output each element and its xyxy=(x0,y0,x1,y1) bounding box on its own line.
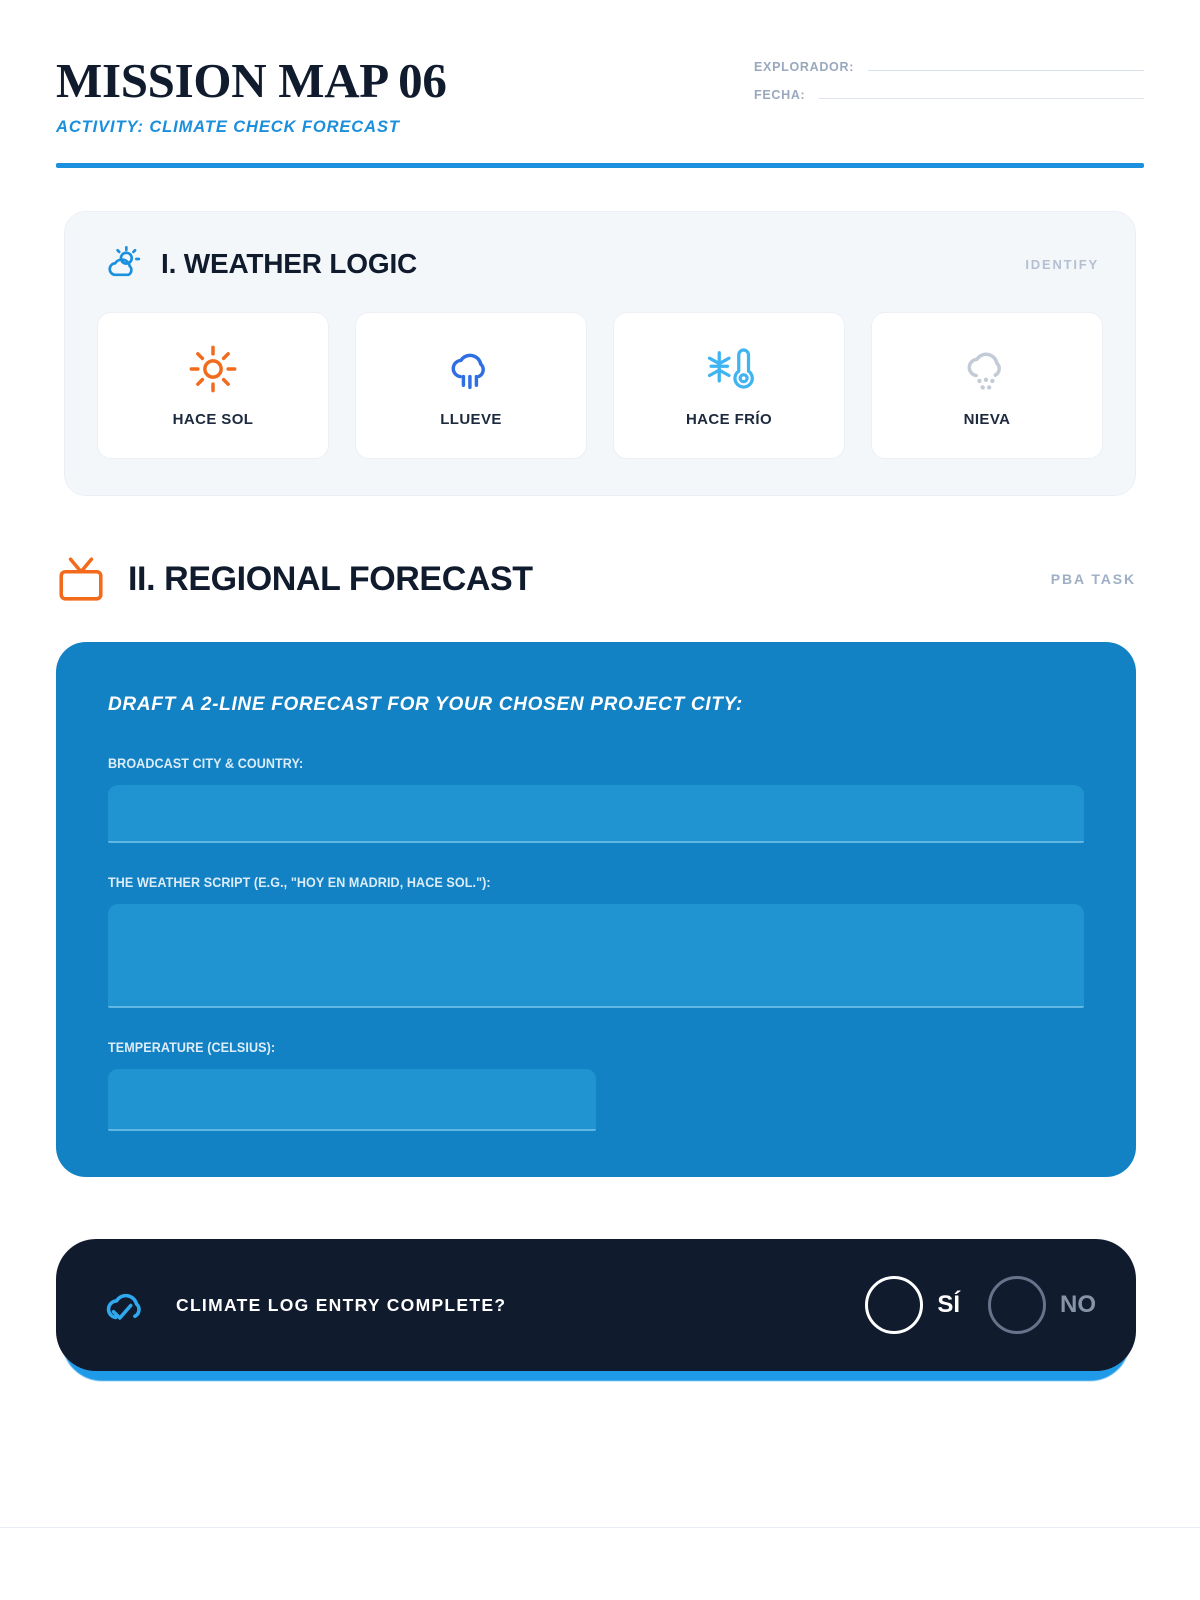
confirm-question: CLIMATE LOG ENTRY COMPLETE? xyxy=(176,1295,506,1316)
weather-option-nieva[interactable]: NIEVA xyxy=(871,312,1103,459)
explorer-field-row: EXPLORADOR: xyxy=(754,60,1144,74)
meta-fields: EXPLORADOR: FECHA: xyxy=(754,52,1144,116)
broadcast-city-label: BROADCAST CITY & COUNTRY: xyxy=(108,756,1016,771)
header-divider xyxy=(56,163,1144,168)
temperature-input[interactable] xyxy=(108,1069,596,1131)
broadcast-city-field-block: BROADCAST CITY & COUNTRY: xyxy=(108,756,1084,843)
snowflake-thermometer-icon xyxy=(703,343,755,395)
confirm-choices: SÍ NO xyxy=(865,1276,1096,1334)
date-label: FECHA: xyxy=(754,88,805,102)
broadcast-city-input[interactable] xyxy=(108,785,1084,843)
explorer-write-line[interactable] xyxy=(868,70,1144,71)
sun-behind-cloud-icon xyxy=(103,244,143,284)
weather-script-field-block: THE WEATHER SCRIPT (E.G., "HOY EN MADRID… xyxy=(108,875,1084,1008)
page-title: MISSION MAP 06 xyxy=(56,56,447,105)
radio-no-icon[interactable] xyxy=(988,1276,1046,1334)
forecast-form-card: DRAFT A 2-LINE FORECAST FOR YOUR CHOSEN … xyxy=(56,642,1136,1177)
sun-icon xyxy=(187,343,239,395)
weather-logic-panel: I. WEATHER LOGIC IDENTIFY HACE SOL xyxy=(64,211,1136,496)
temperature-label: TEMPERATURE (CELSIUS): xyxy=(108,1040,1016,1055)
section-one-title: I. WEATHER LOGIC xyxy=(161,248,417,280)
section-one-tag: IDENTIFY xyxy=(1025,257,1099,272)
weather-option-label: HACE FRÍO xyxy=(686,411,772,428)
section-two-title: II. REGIONAL FORECAST xyxy=(128,560,533,599)
forecast-prompt: DRAFT A 2-LINE FORECAST FOR YOUR CHOSEN … xyxy=(108,694,1084,716)
weather-option-llueve[interactable]: LLUEVE xyxy=(355,312,587,459)
radio-yes-icon[interactable] xyxy=(865,1276,923,1334)
weather-option-hace-sol[interactable]: HACE SOL xyxy=(97,312,329,459)
regional-forecast-header: II. REGIONAL FORECAST PBA TASK xyxy=(56,554,1136,604)
worksheet-page: MISSION MAP 06 ACTIVITY: CLIMATE CHECK F… xyxy=(0,0,1200,1528)
confirm-bar: CLIMATE LOG ENTRY COMPLETE? SÍ NO xyxy=(56,1239,1136,1371)
weather-option-hace-frio[interactable]: HACE FRÍO xyxy=(613,312,845,459)
weather-script-input[interactable] xyxy=(108,904,1084,1008)
weather-logic-header: I. WEATHER LOGIC IDENTIFY xyxy=(97,244,1103,284)
explorer-label: EXPLORADOR: xyxy=(754,60,854,74)
weather-option-label: HACE SOL xyxy=(173,411,254,428)
weather-script-label: THE WEATHER SCRIPT (E.G., "HOY EN MADRID… xyxy=(108,875,1016,890)
weather-option-label: NIEVA xyxy=(964,411,1011,428)
confirm-choice-no[interactable]: NO xyxy=(988,1276,1096,1334)
date-field-row: FECHA: xyxy=(754,88,1144,102)
temperature-field-block: TEMPERATURE (CELSIUS): xyxy=(108,1040,1084,1131)
date-write-line[interactable] xyxy=(819,98,1144,99)
rain-cloud-icon xyxy=(445,343,497,395)
snow-cloud-icon xyxy=(961,343,1013,395)
section-two-tag: PBA TASK xyxy=(1051,571,1136,587)
title-block: MISSION MAP 06 ACTIVITY: CLIMATE CHECK F… xyxy=(56,52,447,137)
television-icon xyxy=(56,554,106,604)
confirm-no-label: NO xyxy=(1060,1291,1096,1319)
confirm-choice-yes[interactable]: SÍ xyxy=(865,1276,960,1334)
cloud-check-icon xyxy=(100,1280,150,1330)
page-header: MISSION MAP 06 ACTIVITY: CLIMATE CHECK F… xyxy=(0,0,1200,137)
page-subtitle: ACTIVITY: CLIMATE CHECK FORECAST xyxy=(56,118,447,137)
confirm-yes-label: SÍ xyxy=(937,1291,960,1319)
weather-option-label: LLUEVE xyxy=(440,411,502,428)
confirmation-section: CLIMATE LOG ENTRY COMPLETE? SÍ NO xyxy=(56,1239,1136,1371)
weather-options-grid: HACE SOL LLUEVE xyxy=(97,312,1103,459)
